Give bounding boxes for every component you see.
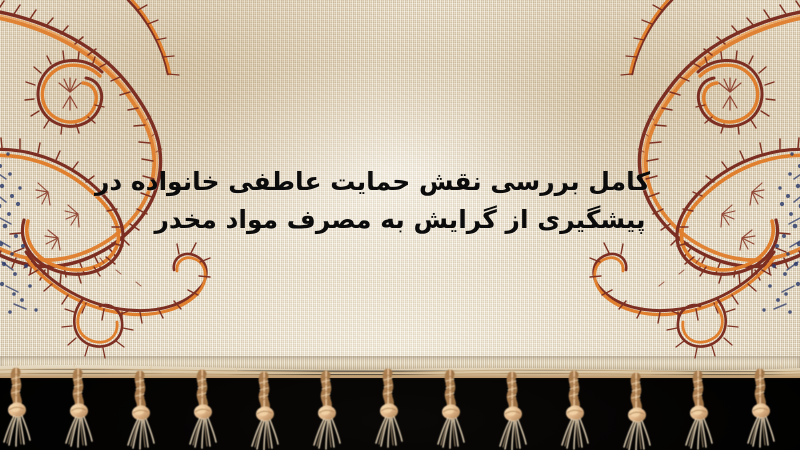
title-line-1: کامل بررسی نقش حمایت عاطفی خانواده در xyxy=(150,163,650,201)
page-title: کامل بررسی نقش حمایت عاطفی خانواده در پی… xyxy=(0,163,800,239)
title-card-canvas: کامل بررسی نقش حمایت عاطفی خانواده در پی… xyxy=(0,0,800,450)
title-line-2: پیشگیری از گرایش به مصرف مواد مخدر xyxy=(150,201,650,239)
knotted-tassel-fringe xyxy=(0,362,800,450)
